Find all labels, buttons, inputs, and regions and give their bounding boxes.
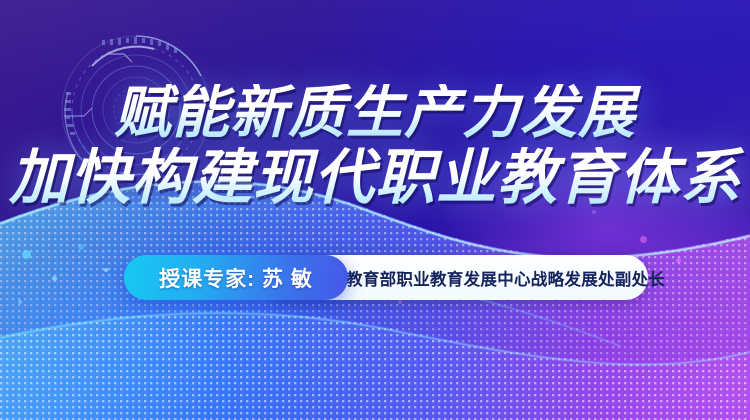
bokeh-dot <box>676 258 681 263</box>
bokeh-dot <box>78 244 84 250</box>
blue-glow <box>0 193 450 420</box>
bokeh-dot <box>706 244 710 248</box>
bokeh-dot <box>22 250 31 259</box>
hud-rings-icon <box>58 32 214 188</box>
title-line-1: 赋能新质生产力发展 <box>0 84 750 143</box>
bokeh-dot <box>52 276 57 281</box>
violet-glow <box>375 76 750 378</box>
speaker-name-pill: 授课专家: 苏 敏 <box>124 255 348 300</box>
bokeh-dot <box>640 236 647 243</box>
speaker-name-text: 授课专家: 苏 敏 <box>159 263 313 293</box>
bokeh-dot <box>18 300 22 304</box>
bokeh-dot <box>398 300 402 304</box>
promo-banner: 赋能新质生产力发展 加快构建现代职业教育体系 教育部职业教育发展中心战略发展处副… <box>0 0 750 420</box>
speaker-affiliation-text: 教育部职业教育发展中心战略发展处副处长 <box>346 266 665 290</box>
bokeh-dot <box>592 210 596 214</box>
diagonal-light-band <box>0 0 750 119</box>
title-line-2: 加快构建现代职业教育体系 <box>0 147 750 209</box>
bokeh-dot <box>104 268 108 272</box>
headline: 赋能新质生产力发展 加快构建现代职业教育体系 <box>0 84 750 210</box>
speaker-bar: 教育部职业教育发展中心战略发展处副处长 授课专家: 苏 敏 <box>124 255 348 300</box>
